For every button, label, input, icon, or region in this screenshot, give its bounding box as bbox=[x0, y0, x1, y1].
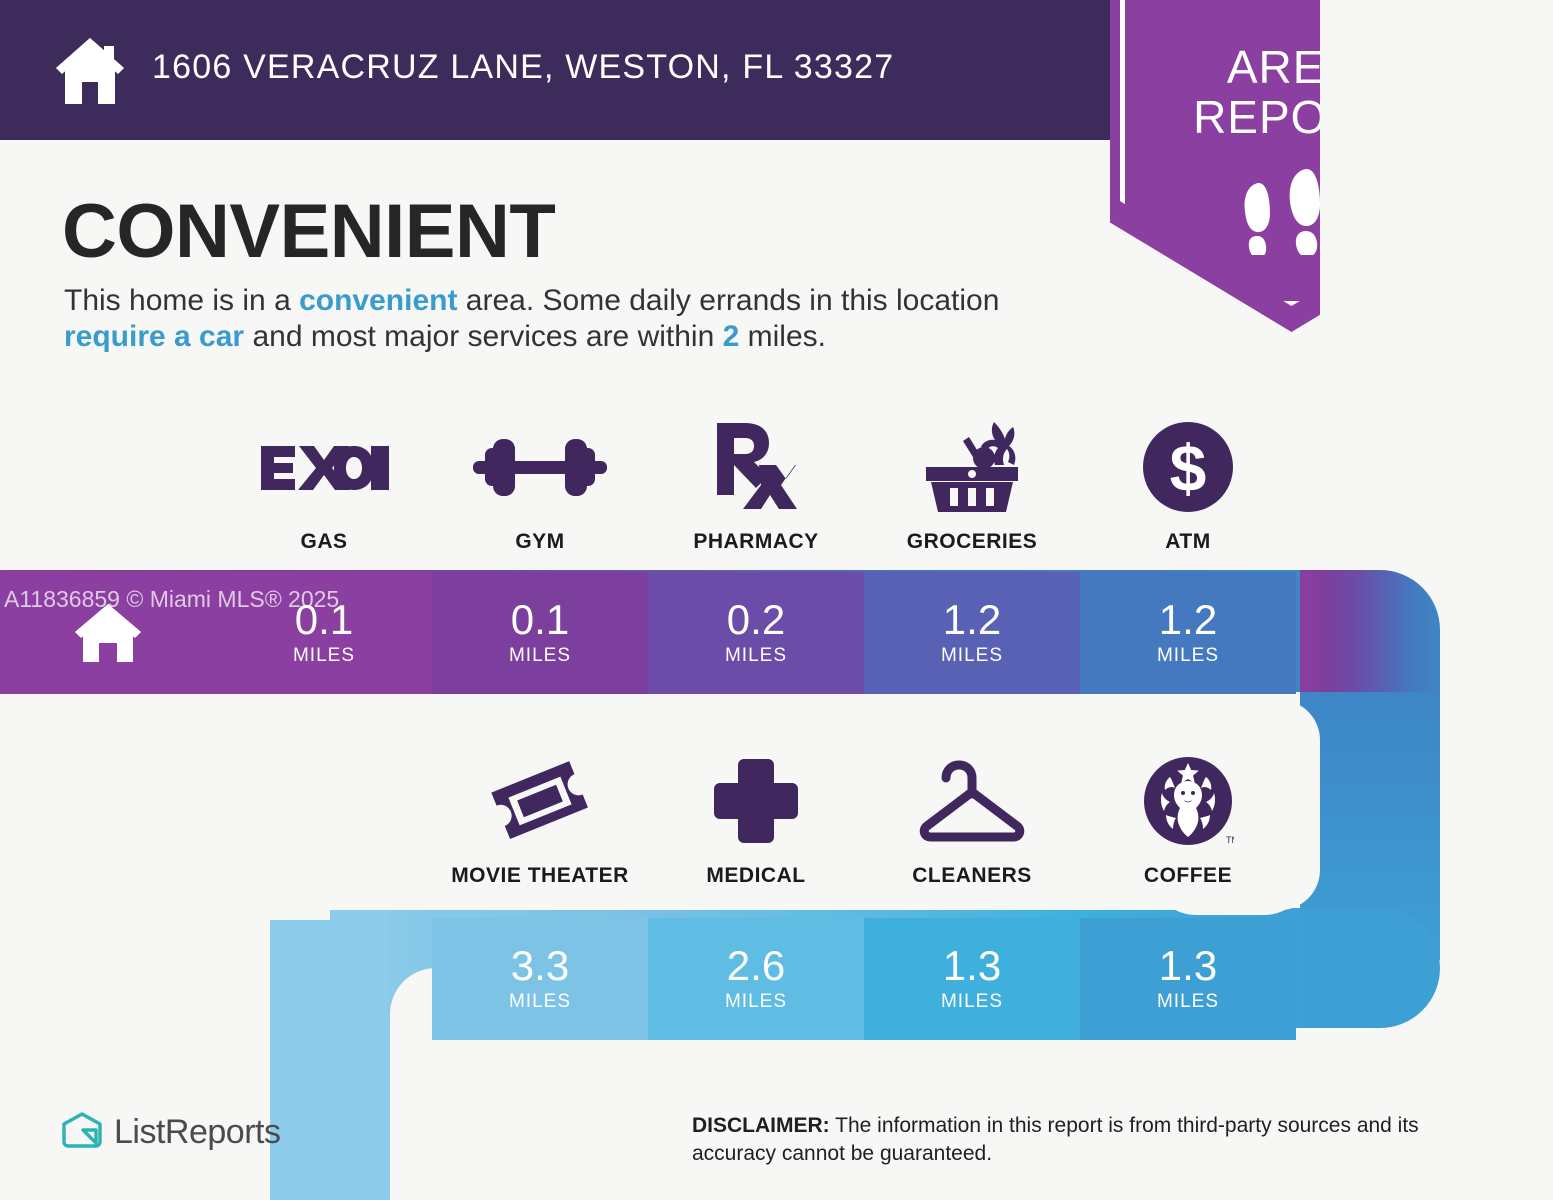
distance-unit: MILES bbox=[941, 991, 1003, 1013]
poi-label: PHARMACY bbox=[648, 530, 864, 554]
summary-paragraph: This home is in a convenient area. Some … bbox=[64, 283, 1084, 355]
distance-value: 0.2 bbox=[727, 599, 785, 641]
poi-label: MOVIE THEATER bbox=[432, 864, 648, 888]
distance-value: 1.3 bbox=[943, 945, 1001, 987]
plain-text: and most major services are within bbox=[244, 320, 723, 353]
listreports-logo[interactable]: ListReports bbox=[60, 1110, 280, 1154]
poi-medical[interactable]: MEDICAL bbox=[648, 752, 864, 888]
mls-watermark: A11836859 © Miami MLS® 2025 bbox=[4, 586, 339, 613]
accent-text: require a car bbox=[64, 320, 244, 353]
listreports-brand-text: ListReports bbox=[114, 1113, 280, 1152]
grocery-basket-icon bbox=[920, 420, 1024, 514]
dollar-circle-icon: $ bbox=[1142, 421, 1234, 513]
hanger-icon bbox=[913, 758, 1031, 844]
icon-row-bottom: MOVIE THEATER MEDICAL CLEANERS bbox=[432, 752, 1296, 902]
poi-label: MEDICAL bbox=[648, 864, 864, 888]
poi-movie-theater[interactable]: MOVIE THEATER bbox=[432, 752, 648, 888]
distance-unit: MILES bbox=[941, 645, 1003, 667]
svg-text:$: $ bbox=[1170, 431, 1207, 505]
dumbbell-icon bbox=[473, 431, 607, 503]
distance-value: 2.6 bbox=[727, 945, 785, 987]
icon-row-top: GAS GYM bbox=[216, 418, 1296, 568]
distance-unit: MILES bbox=[509, 991, 571, 1013]
distance-value: 1.2 bbox=[1159, 599, 1217, 641]
distance-unit: MILES bbox=[509, 645, 571, 667]
poi-label: COFFEE bbox=[1080, 864, 1296, 888]
distance-value: 3.3 bbox=[511, 945, 569, 987]
svg-text:TM: TM bbox=[1226, 835, 1234, 845]
distance-cell-atm: 1.2 MILES bbox=[1080, 572, 1296, 694]
distance-unit: MILES bbox=[725, 991, 787, 1013]
poi-gym[interactable]: GYM bbox=[432, 418, 648, 554]
accent-text: convenient bbox=[299, 284, 457, 317]
home-icon bbox=[52, 36, 128, 106]
ticket-icon bbox=[490, 755, 590, 847]
distance-bar-row2: 3.3 MILES 2.6 MILES 1.3 MILES 1.3 MILES bbox=[432, 918, 1296, 1040]
distance-unit: MILES bbox=[1157, 645, 1219, 667]
poi-groceries[interactable]: GROCERIES bbox=[864, 418, 1080, 554]
distance-cell-coffee: 1.3 MILES bbox=[1080, 918, 1296, 1040]
distance-value: 1.2 bbox=[943, 599, 1001, 641]
distance-cell-gym: 0.1 MILES bbox=[432, 572, 648, 694]
distance-unit: MILES bbox=[1157, 991, 1219, 1013]
distance-cell-medical: 2.6 MILES bbox=[648, 918, 864, 1040]
poi-atm[interactable]: $ ATM bbox=[1080, 418, 1296, 554]
disclaimer-label: DISCLAIMER: bbox=[692, 1114, 830, 1137]
poi-label: CLEANERS bbox=[864, 864, 1080, 888]
listreports-house-tag-icon bbox=[60, 1110, 104, 1154]
distance-unit: MILES bbox=[293, 645, 355, 667]
distance-cell-groceries: 1.2 MILES bbox=[864, 572, 1080, 694]
plain-text: area. Some daily errands in this locatio… bbox=[457, 284, 999, 317]
exxon-logo-icon bbox=[259, 438, 389, 496]
top-right-gap bbox=[1320, 0, 1553, 570]
starbucks-logo-icon: TM bbox=[1142, 755, 1234, 847]
rx-icon bbox=[713, 421, 799, 513]
poi-label: GAS bbox=[216, 530, 432, 554]
accent-text: 2 bbox=[723, 320, 740, 353]
distance-cell-movie-theater: 3.3 MILES bbox=[432, 918, 648, 1040]
disclaimer: DISCLAIMER: The information in this repo… bbox=[692, 1112, 1502, 1168]
poi-label: GYM bbox=[432, 530, 648, 554]
page-title: CONVENIENT bbox=[62, 188, 555, 275]
poi-pharmacy[interactable]: PHARMACY bbox=[648, 418, 864, 554]
distance-value: 1.3 bbox=[1159, 945, 1217, 987]
property-address: 1606 VERACRUZ LANE, WESTON, FL 33327 bbox=[152, 48, 894, 87]
poi-label: ATM bbox=[1080, 530, 1296, 554]
poi-label: GROCERIES bbox=[864, 530, 1080, 554]
medical-cross-icon bbox=[712, 757, 800, 845]
poi-gas[interactable]: GAS bbox=[216, 418, 432, 554]
plain-text: miles. bbox=[739, 320, 826, 353]
distance-unit: MILES bbox=[725, 645, 787, 667]
distance-value: 0.1 bbox=[511, 599, 569, 641]
distance-cell-pharmacy: 0.2 MILES bbox=[648, 572, 864, 694]
row2-left-gap bbox=[0, 690, 330, 920]
distance-cell-cleaners: 1.3 MILES bbox=[864, 918, 1080, 1040]
poi-coffee[interactable]: TM COFFEE bbox=[1080, 752, 1296, 888]
poi-cleaners[interactable]: CLEANERS bbox=[864, 752, 1080, 888]
area-report-page: 1606 VERACRUZ LANE, WESTON, FL 33327 ARE… bbox=[0, 0, 1553, 1200]
plain-text: This home is in a bbox=[64, 284, 299, 317]
